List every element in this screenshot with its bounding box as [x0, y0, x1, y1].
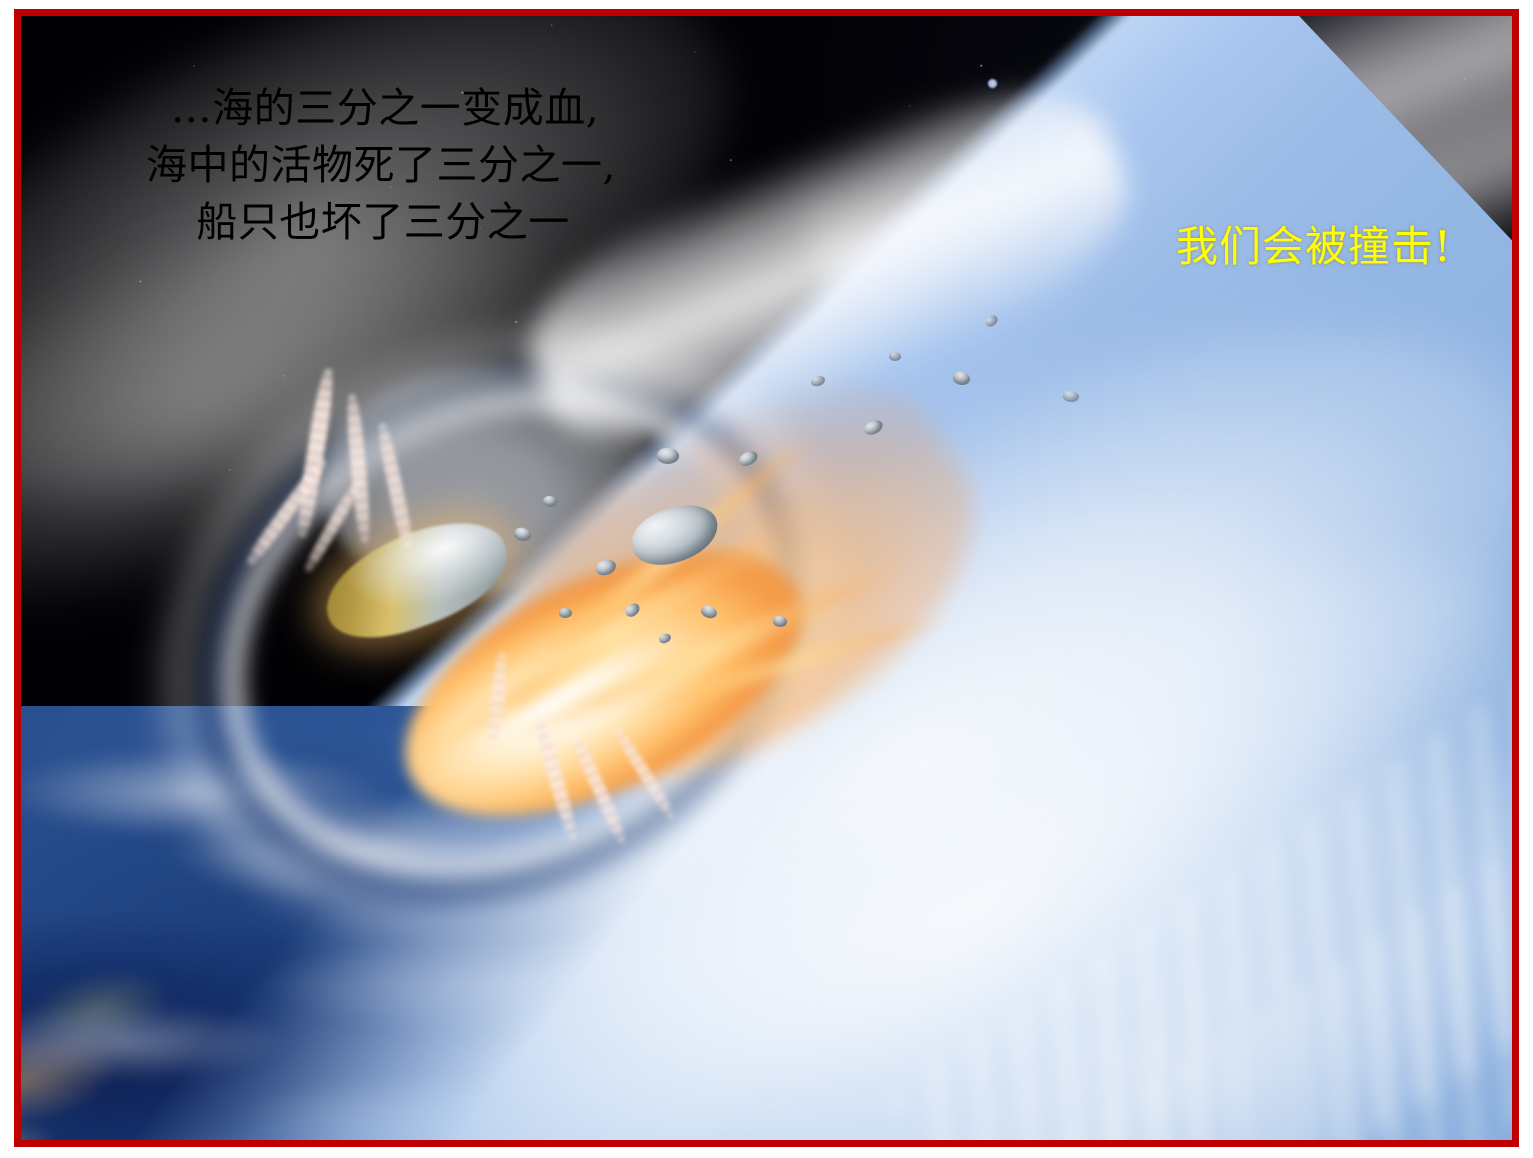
scripture-line-2: 海中的活物死了三分之一, — [76, 137, 686, 194]
red-picture-frame: …海的三分之一变成血, 海中的活物死了三分之一, 船只也坏了三分之一 我们会被撞… — [14, 9, 1519, 1147]
illustration-artwork: …海的三分之一变成血, 海中的活物死了三分之一, 船只也坏了三分之一 我们会被撞… — [21, 16, 1512, 1140]
scripture-caption: …海的三分之一变成血, 海中的活物死了三分之一, 船只也坏了三分之一 — [76, 80, 686, 251]
warning-text: 我们会被撞击! — [1176, 221, 1452, 273]
scripture-line-1: …海的三分之一变成血, — [76, 80, 686, 137]
scripture-line-3: 船只也坏了三分之一 — [76, 194, 686, 251]
slide-canvas: …海的三分之一变成血, 海中的活物死了三分之一, 船只也坏了三分之一 我们会被撞… — [0, 0, 1533, 1158]
